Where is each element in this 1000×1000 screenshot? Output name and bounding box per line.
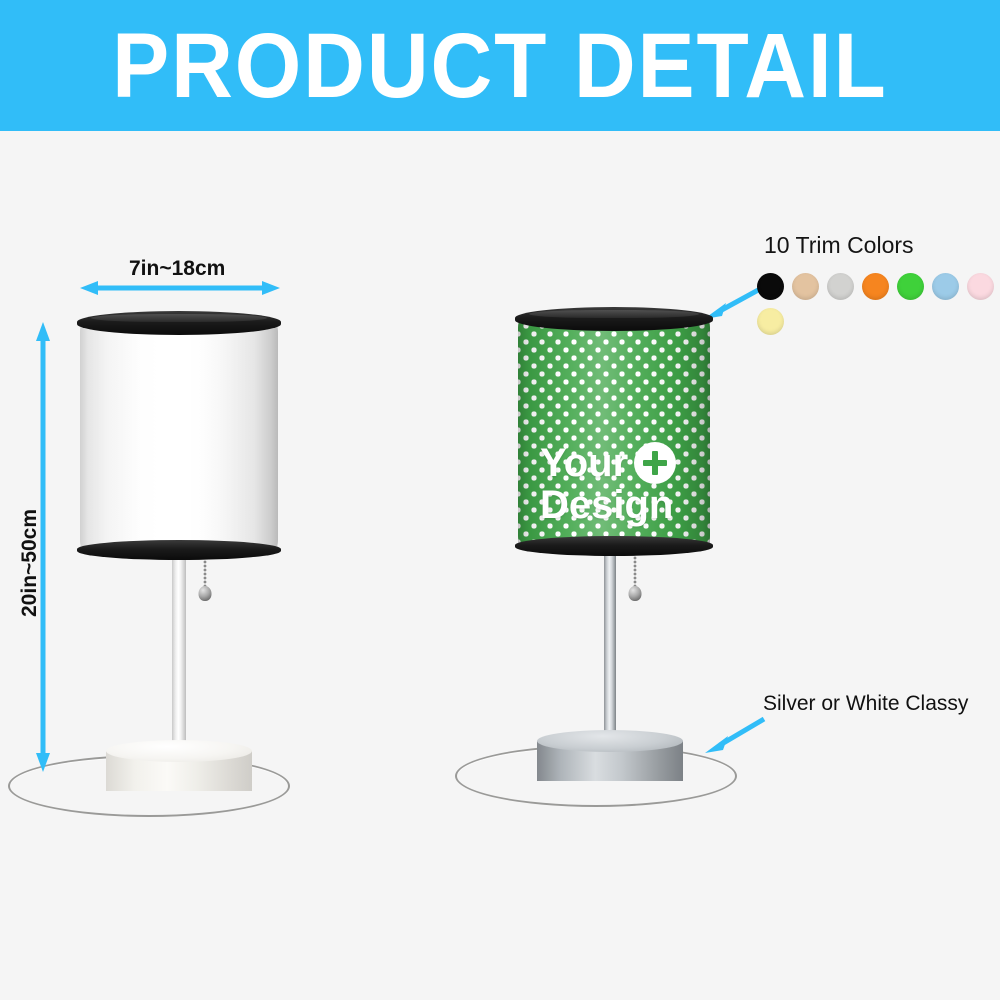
lamp-green-base xyxy=(537,730,683,784)
shade-top-trim-inner xyxy=(91,314,266,322)
shade-top-trim xyxy=(515,307,713,331)
lamp-white-pull-chain[interactable] xyxy=(198,556,211,592)
lamp-green-pull-chain[interactable] xyxy=(628,556,641,592)
lamp-white-shade xyxy=(80,322,278,550)
trim-swatch-light-gray[interactable] xyxy=(827,273,854,300)
pull-chain-ball xyxy=(198,586,211,601)
base-finish-callout-arrow xyxy=(700,713,770,755)
base-finish-callout-label: Silver or White Classy xyxy=(763,692,968,716)
base-top-face xyxy=(537,730,683,752)
lamp-green-stem xyxy=(604,550,616,742)
width-dimension-arrow xyxy=(80,278,280,298)
trim-colors-swatch-row-1 xyxy=(757,273,1000,300)
shade-surface xyxy=(80,322,278,550)
trim-swatch-yellow[interactable] xyxy=(757,308,784,335)
pull-chain-ball xyxy=(628,586,641,601)
shade-bottom-trim xyxy=(77,540,281,560)
height-dimension-arrow xyxy=(33,322,53,772)
lamp-white-stem xyxy=(172,552,186,752)
trim-swatch-light-blue[interactable] xyxy=(932,273,959,300)
shade-top-trim-inner xyxy=(529,310,699,318)
trim-colors-title: 10 Trim Colors xyxy=(764,232,914,259)
trim-swatch-tan[interactable] xyxy=(792,273,819,300)
shade-surface xyxy=(518,318,710,546)
trim-swatch-black[interactable] xyxy=(757,273,784,300)
lamp-white-base xyxy=(106,740,252,794)
trim-swatch-orange[interactable] xyxy=(862,273,889,300)
shade-top-trim xyxy=(77,311,281,335)
trim-swatch-green[interactable] xyxy=(897,273,924,300)
base-top-face xyxy=(106,740,252,762)
trim-colors-swatch-row-2 xyxy=(757,308,784,335)
product-detail-page: PRODUCT DETAIL xyxy=(0,0,1000,1000)
trim-swatch-pink[interactable] xyxy=(967,273,994,300)
shade-bottom-trim xyxy=(515,536,713,556)
page-title: PRODUCT DETAIL xyxy=(112,20,887,112)
page-banner: PRODUCT DETAIL xyxy=(0,0,1000,131)
lamp-green-shade: Your Design xyxy=(518,318,710,546)
